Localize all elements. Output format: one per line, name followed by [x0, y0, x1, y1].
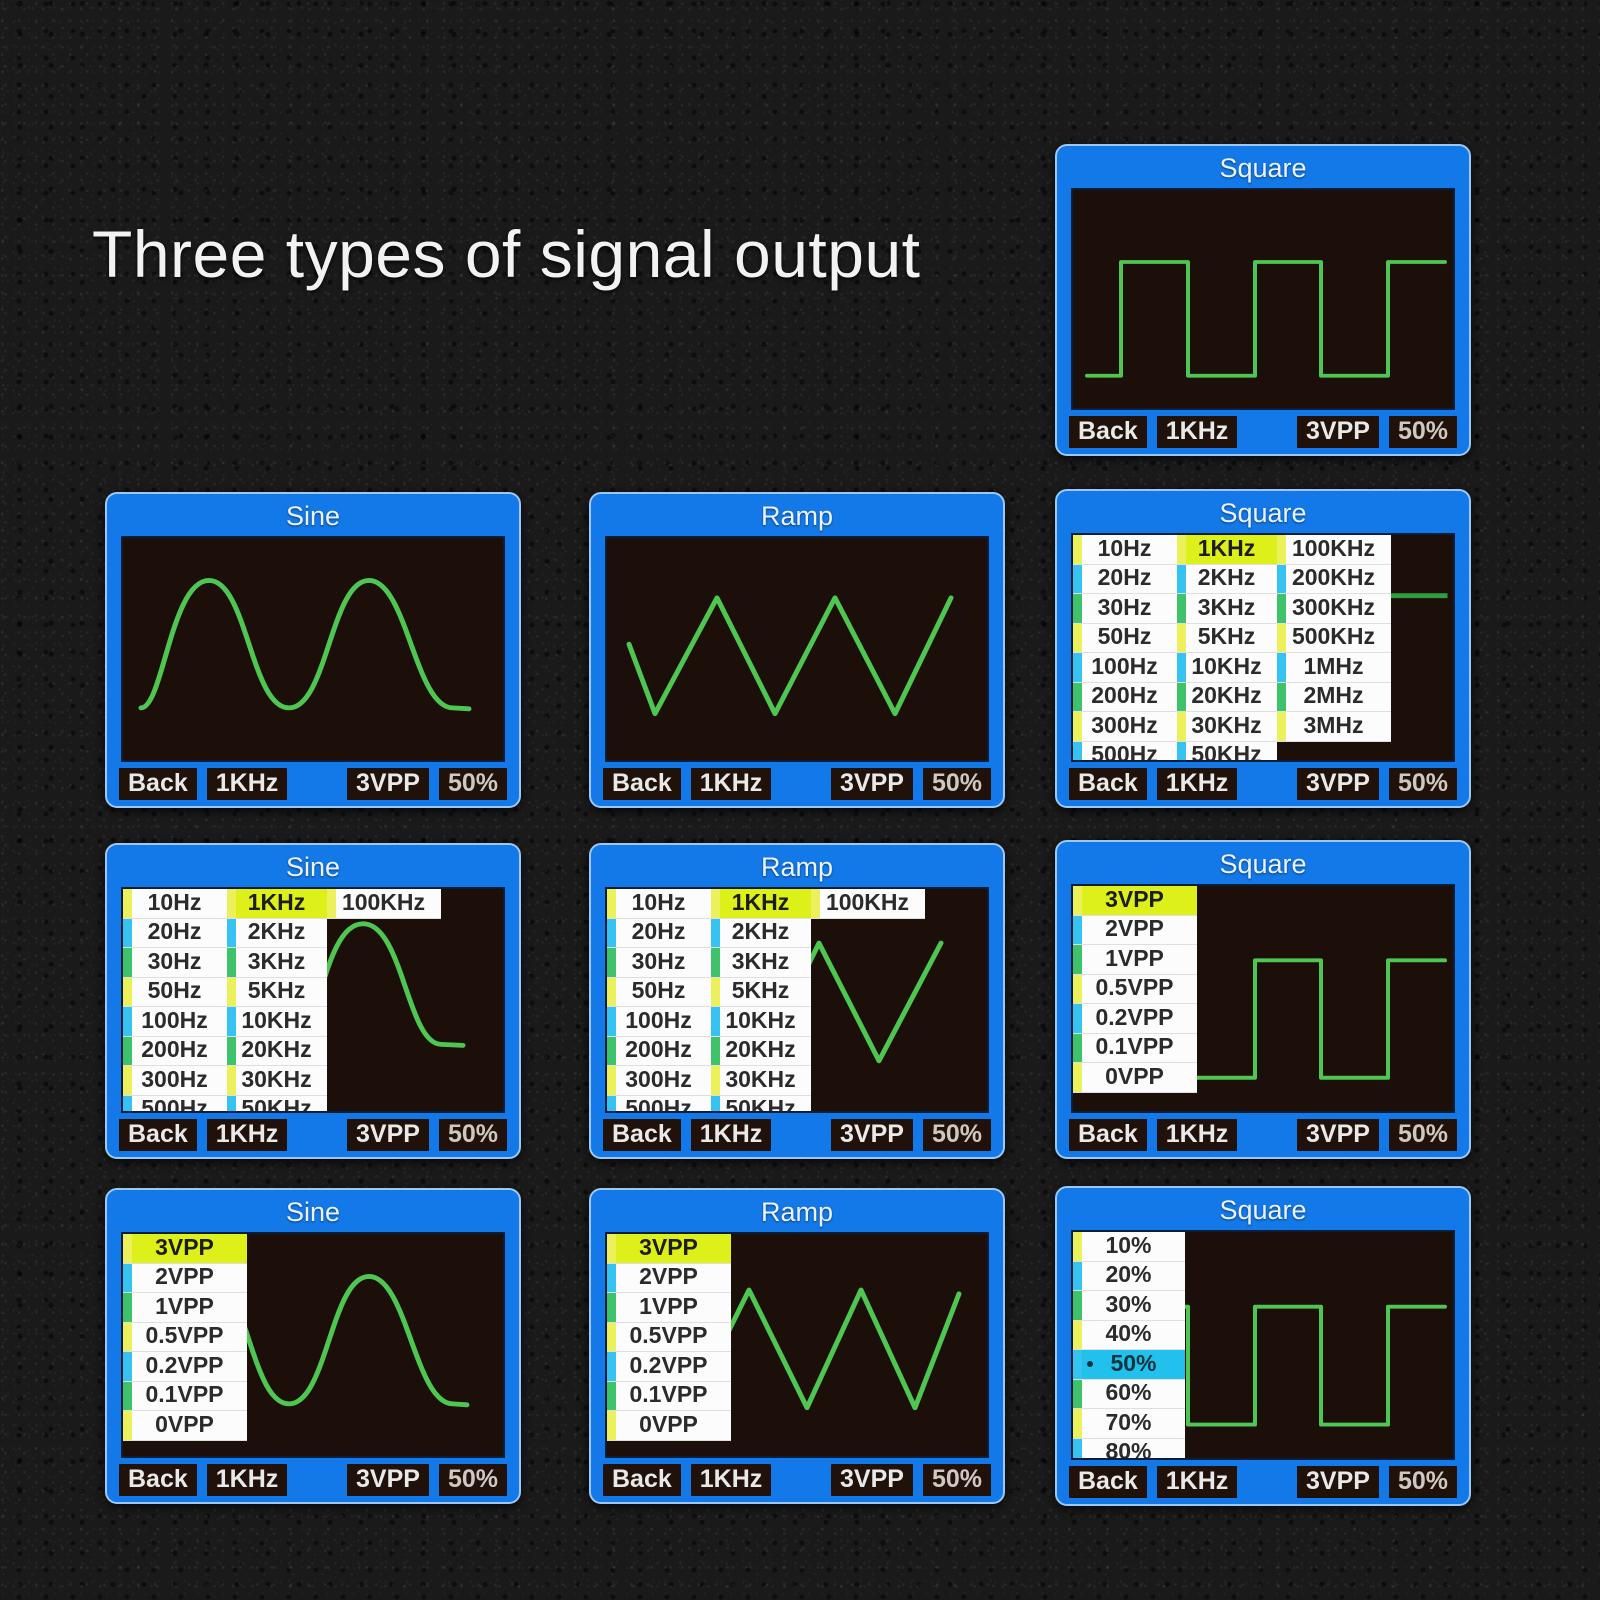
amplitude-button[interactable]: 3VPP	[347, 1119, 429, 1152]
menu-row-stripe	[1073, 535, 1082, 564]
frequency-option[interactable]: 200Hz	[607, 1037, 711, 1067]
frequency-menu-column-2[interactable]: 1KHz2KHz3KHz5KHz10KHz20KHz30KHz50KHz	[711, 889, 811, 1113]
amplitude-option[interactable]: 3VPP	[1073, 886, 1197, 916]
duty-option[interactable]: 30%	[1073, 1291, 1185, 1321]
device-panel-square-duty[interactable]: Square 10%20%30%40%50%60%70%80% Back 1KH…	[1055, 1186, 1471, 1506]
device-panel-square-amplitude[interactable]: Square 3VPP2VPP1VPP0.5VPP0.2VPP0.1VPP0VP…	[1055, 840, 1471, 1159]
frequency-menu-column-1[interactable]: 10Hz20Hz30Hz50Hz100Hz200Hz300Hz500Hz	[1073, 535, 1177, 762]
menu-row-stripe	[1073, 1439, 1082, 1461]
amplitude-option[interactable]: 0.2VPP	[123, 1352, 247, 1382]
frequency-option[interactable]: 200Hz	[123, 1037, 227, 1067]
menu-row-stripe	[123, 948, 132, 977]
menu-row-stripe	[1073, 1409, 1082, 1438]
menu-item-label: 500Hz	[1082, 743, 1169, 762]
ramp-waveform-icon	[607, 538, 987, 760]
menu-row-stripe	[123, 1411, 132, 1440]
frequency-option[interactable]: 500KHz	[1277, 624, 1391, 654]
menu-row-stripe	[1177, 565, 1186, 594]
menu-row-stripe	[1277, 535, 1286, 564]
menu-item-label: 2KHz	[720, 920, 803, 945]
frequency-button[interactable]: 1KHz	[207, 1464, 288, 1497]
amplitude-option[interactable]: 1VPP	[607, 1293, 731, 1323]
waveform-screen	[121, 536, 505, 762]
status-bar: Back 1KHz 3VPP 50%	[1057, 410, 1469, 454]
menu-row-stripe	[711, 889, 720, 918]
amplitude-option[interactable]: 0VPP	[607, 1411, 731, 1441]
amplitude-option[interactable]: 0VPP	[1073, 1063, 1197, 1093]
amplitude-button[interactable]: 3VPP	[831, 1119, 913, 1152]
menu-item-label: 5KHz	[236, 979, 319, 1004]
menu-row-stripe	[607, 1007, 616, 1036]
menu-item-label: 50Hz	[1082, 625, 1169, 650]
amplitude-menu-column[interactable]: 3VPP2VPP1VPP0.5VPP0.2VPP0.1VPP0VPP	[123, 1234, 247, 1441]
menu-row-stripe	[227, 1007, 236, 1036]
frequency-button[interactable]: 1KHz	[691, 1119, 772, 1152]
frequency-button[interactable]: 1KHz	[1157, 768, 1238, 801]
frequency-button[interactable]: 1KHz	[1157, 1466, 1238, 1499]
frequency-option[interactable]: 1KHz	[227, 889, 327, 919]
frequency-menu-column-2[interactable]: 1KHz2KHz3KHz5KHz10KHz20KHz30KHz50KHz	[1177, 535, 1277, 762]
frequency-button[interactable]: 1KHz	[1157, 1119, 1238, 1152]
frequency-option[interactable]: 100Hz	[123, 1007, 227, 1037]
menu-item-label: 30%	[1082, 1293, 1177, 1318]
amplitude-option[interactable]: 0.5VPP	[1073, 975, 1197, 1005]
page-title: Three types of signal output	[92, 216, 921, 292]
waveform-screen: 10Hz20Hz30Hz50Hz100Hz200Hz300Hz500Hz 1KH…	[1071, 533, 1455, 762]
menu-item-label: 30Hz	[1082, 596, 1169, 621]
frequency-option[interactable]: 10Hz	[607, 889, 711, 919]
duty-option[interactable]: 20%	[1073, 1262, 1185, 1292]
frequency-button[interactable]: 1KHz	[691, 768, 772, 801]
menu-item-label: 100KHz	[336, 891, 433, 916]
panel-title: Ramp	[591, 498, 1003, 536]
menu-row-stripe	[607, 1293, 616, 1322]
menu-item-label: 20Hz	[1082, 566, 1169, 591]
menu-item-label: 2VPP	[132, 1265, 239, 1290]
menu-row-stripe	[607, 1066, 616, 1095]
frequency-option[interactable]: 10Hz	[1073, 535, 1177, 565]
frequency-option[interactable]: 30KHz	[1177, 712, 1277, 742]
frequency-option[interactable]: 20KHz	[227, 1037, 327, 1067]
menu-row-stripe	[1277, 565, 1286, 594]
duty-button[interactable]: 50%	[439, 1119, 507, 1152]
menu-row-stripe	[711, 1066, 720, 1095]
menu-item-label: 0.2VPP	[132, 1354, 239, 1379]
amplitude-button[interactable]: 3VPP	[347, 768, 429, 801]
frequency-option[interactable]: 500Hz	[607, 1096, 711, 1114]
frequency-option[interactable]: 500Hz	[1073, 742, 1177, 763]
frequency-option[interactable]: 200Hz	[1073, 683, 1177, 713]
duty-menu-column[interactable]: 10%20%30%40%50%60%70%80%	[1073, 1232, 1185, 1460]
menu-row-stripe	[711, 1007, 720, 1036]
frequency-option[interactable]: 1KHz	[711, 889, 811, 919]
menu-item-label: 2MHz	[1286, 684, 1383, 709]
frequency-button[interactable]: 1KHz	[1157, 416, 1238, 449]
menu-row-stripe	[1277, 624, 1286, 653]
menu-item-label: 50KHz	[1186, 743, 1269, 762]
amplitude-option[interactable]: 1VPP	[123, 1293, 247, 1323]
back-button[interactable]: Back	[1069, 416, 1147, 449]
menu-row-stripe	[607, 1352, 616, 1381]
frequency-option[interactable]: 10KHz	[1177, 653, 1277, 683]
amplitude-menu[interactable]: 3VPP2VPP1VPP0.5VPP0.2VPP0.1VPP0VPP	[123, 1234, 247, 1441]
duty-button[interactable]: 50%	[923, 1464, 991, 1497]
menu-row-stripe	[123, 889, 132, 918]
menu-row-stripe	[227, 1037, 236, 1066]
frequency-menu-column-3[interactable]: 100KHz	[811, 889, 925, 919]
menu-item-label: 2VPP	[1082, 917, 1189, 942]
menu-item-label: 20%	[1082, 1263, 1177, 1288]
duty-option[interactable]: 50%	[1073, 1350, 1185, 1380]
menu-row-stripe	[123, 1066, 132, 1095]
waveform-screen: 3VPP2VPP1VPP0.5VPP0.2VPP0.1VPP0VPP	[605, 1232, 989, 1458]
sine-waveform-icon	[123, 538, 503, 760]
frequency-option[interactable]: 30Hz	[123, 948, 227, 978]
menu-item-label: 3VPP	[616, 1236, 723, 1261]
frequency-option[interactable]: 3KHz	[227, 948, 327, 978]
menu-row-stripe	[1177, 535, 1186, 564]
duty-button[interactable]: 50%	[923, 1119, 991, 1152]
amplitude-menu[interactable]: 3VPP2VPP1VPP0.5VPP0.2VPP0.1VPP0VPP	[607, 1234, 731, 1441]
amplitude-option[interactable]: 2VPP	[607, 1264, 731, 1294]
menu-row-stripe	[123, 1382, 132, 1411]
menu-item-label: 0.5VPP	[616, 1324, 723, 1349]
frequency-menu-column-1[interactable]: 10Hz20Hz30Hz50Hz100Hz200Hz300Hz500Hz	[123, 889, 227, 1113]
frequency-option[interactable]: 5KHz	[227, 978, 327, 1008]
menu-row-stripe	[1277, 653, 1286, 682]
frequency-option[interactable]: 20Hz	[1073, 565, 1177, 595]
menu-item-label: 100Hz	[616, 1009, 703, 1034]
waveform-screen: 10%20%30%40%50%60%70%80%	[1071, 1230, 1455, 1460]
frequency-option[interactable]: 10Hz	[123, 889, 227, 919]
menu-item-label: 3VPP	[132, 1236, 239, 1261]
menu-row-stripe	[227, 889, 236, 918]
menu-item-label: 20KHz	[236, 1038, 319, 1063]
menu-row-stripe	[1073, 886, 1082, 915]
duty-button[interactable]: 50%	[1389, 768, 1457, 801]
frequency-option[interactable]: 30KHz	[711, 1066, 811, 1096]
frequency-option[interactable]: 500Hz	[123, 1096, 227, 1114]
status-bar: Back 1KHz 3VPP 50%	[591, 1458, 1003, 1502]
amplitude-option[interactable]: 1VPP	[1073, 945, 1197, 975]
panel-title: Ramp	[591, 849, 1003, 887]
menu-row-stripe	[1073, 712, 1082, 741]
frequency-option[interactable]: 300KHz	[1277, 594, 1391, 624]
menu-item-label: 300KHz	[1286, 596, 1383, 621]
duty-option[interactable]: 10%	[1073, 1232, 1185, 1262]
panel-title: Square	[1057, 846, 1469, 884]
menu-item-label: 300Hz	[132, 1068, 219, 1093]
frequency-button[interactable]: 1KHz	[207, 768, 288, 801]
menu-row-stripe	[607, 1411, 616, 1440]
amplitude-button[interactable]: 3VPP	[1297, 1466, 1379, 1499]
amplitude-button[interactable]: 3VPP	[1297, 1119, 1379, 1152]
frequency-option[interactable]: 5KHz	[711, 978, 811, 1008]
amplitude-option[interactable]: 0.1VPP	[1073, 1034, 1197, 1064]
duty-button[interactable]: 50%	[439, 768, 507, 801]
menu-row-stripe	[227, 1066, 236, 1095]
menu-item-label: 100KHz	[1286, 537, 1383, 562]
frequency-option[interactable]: 100KHz	[1277, 535, 1391, 565]
menu-item-label: 200Hz	[616, 1038, 703, 1063]
device-panel-sine-amplitude[interactable]: Sine 3VPP2VPP1VPP0.5VPP0.2VPP0.1VPP0VPP …	[105, 1188, 521, 1504]
amplitude-button[interactable]: 3VPP	[831, 1464, 913, 1497]
status-bar: Back 1KHz 3VPP 50%	[591, 762, 1003, 806]
frequency-option[interactable]: 50Hz	[607, 978, 711, 1008]
menu-row-stripe	[1073, 1034, 1082, 1063]
amplitude-button[interactable]: 3VPP	[1297, 416, 1379, 449]
back-button[interactable]: Back	[119, 768, 197, 801]
back-button[interactable]: Back	[1069, 768, 1147, 801]
menu-row-stripe	[711, 919, 720, 948]
menu-row-stripe	[1073, 975, 1082, 1004]
menu-row-stripe	[1073, 1232, 1082, 1261]
frequency-option[interactable]: 20KHz	[1177, 683, 1277, 713]
back-button[interactable]: Back	[603, 1464, 681, 1497]
duty-button[interactable]: 50%	[439, 1464, 507, 1497]
frequency-menu[interactable]: 10Hz20Hz30Hz50Hz100Hz200Hz300Hz500Hz 1KH…	[1073, 535, 1391, 762]
frequency-menu[interactable]: 10Hz20Hz30Hz50Hz100Hz200Hz300Hz500Hz 1KH…	[607, 889, 925, 1113]
menu-item-label: 300Hz	[616, 1068, 703, 1093]
menu-row-stripe	[1277, 683, 1286, 712]
amplitude-button[interactable]: 3VPP	[1297, 768, 1379, 801]
menu-row-stripe	[607, 1382, 616, 1411]
frequency-option[interactable]: 20Hz	[607, 919, 711, 949]
menu-item-label: 60%	[1082, 1381, 1177, 1406]
frequency-option[interactable]: 50KHz	[711, 1096, 811, 1114]
menu-row-stripe	[1177, 712, 1186, 741]
menu-item-label: 500Hz	[132, 1097, 219, 1113]
duty-button[interactable]: 50%	[1389, 1466, 1457, 1499]
menu-row-stripe	[607, 919, 616, 948]
menu-row-stripe	[711, 978, 720, 1007]
frequency-option[interactable]: 1KHz	[1177, 535, 1277, 565]
duty-menu[interactable]: 10%20%30%40%50%60%70%80%	[1073, 1232, 1185, 1460]
amplitude-option[interactable]: 0VPP	[123, 1411, 247, 1441]
menu-row-stripe	[1277, 594, 1286, 623]
menu-row-stripe	[607, 1264, 616, 1293]
waveform-screen: 3VPP2VPP1VPP0.5VPP0.2VPP0.1VPP0VPP	[121, 1232, 505, 1458]
panel-title: Sine	[107, 498, 519, 536]
menu-item-label: 3MHz	[1286, 714, 1383, 739]
frequency-menu-column-1[interactable]: 10Hz20Hz30Hz50Hz100Hz200Hz300Hz500Hz	[607, 889, 711, 1113]
duty-option[interactable]: 80%	[1073, 1439, 1185, 1461]
status-bar: Back 1KHz 3VPP 50%	[1057, 1460, 1469, 1504]
menu-row-stripe	[1073, 916, 1082, 945]
device-panel-ramp-frequency[interactable]: Ramp 10Hz20Hz30Hz50Hz100Hz200Hz300Hz500H…	[589, 843, 1005, 1159]
menu-item-label: 40%	[1082, 1322, 1177, 1347]
duty-button[interactable]: 50%	[1389, 1119, 1457, 1152]
menu-row-stripe	[1177, 683, 1186, 712]
menu-item-label: 20Hz	[132, 920, 219, 945]
menu-item-label: 30KHz	[236, 1068, 319, 1093]
menu-row-stripe	[327, 889, 336, 918]
amplitude-option[interactable]: 0.1VPP	[123, 1382, 247, 1412]
menu-row-stripe	[1177, 653, 1186, 682]
menu-item-label: 30KHz	[1186, 714, 1269, 739]
device-panel-square-frequency[interactable]: Square 10Hz20Hz30Hz50Hz100Hz200Hz300Hz50…	[1055, 489, 1471, 808]
waveform-screen: 10Hz20Hz30Hz50Hz100Hz200Hz300Hz500Hz 1KH…	[121, 887, 505, 1113]
frequency-option[interactable]: 2KHz	[1177, 565, 1277, 595]
status-bar: Back 1KHz 3VPP 50%	[107, 762, 519, 806]
menu-row-stripe	[1177, 742, 1186, 763]
panel-title: Square	[1057, 1192, 1469, 1230]
menu-row-stripe	[1177, 624, 1186, 653]
frequency-option[interactable]: 10KHz	[711, 1007, 811, 1037]
device-panel-ramp-wave[interactable]: Ramp Back 1KHz 3VPP 50%	[589, 492, 1005, 808]
frequency-option[interactable]: 10KHz	[227, 1007, 327, 1037]
menu-item-label: 30KHz	[720, 1068, 803, 1093]
menu-item-label: 10KHz	[236, 1009, 319, 1034]
back-button[interactable]: Back	[1069, 1119, 1147, 1152]
panel-title: Sine	[107, 1194, 519, 1232]
menu-item-label: 10KHz	[1186, 655, 1269, 680]
duty-button[interactable]: 50%	[923, 768, 991, 801]
amplitude-option[interactable]: 2VPP	[123, 1264, 247, 1294]
amplitude-option[interactable]: 0.1VPP	[607, 1382, 731, 1412]
menu-row-stripe	[123, 1323, 132, 1352]
device-panel-sine-frequency[interactable]: Sine 10Hz20Hz30Hz50Hz100Hz200Hz300Hz500H…	[105, 843, 521, 1159]
back-button[interactable]: Back	[603, 768, 681, 801]
frequency-button[interactable]: 1KHz	[207, 1119, 288, 1152]
back-button[interactable]: Back	[1069, 1466, 1147, 1499]
status-bar: Back 1KHz 3VPP 50%	[1057, 1113, 1469, 1157]
menu-item-label: 0.5VPP	[1082, 976, 1189, 1001]
amplitude-option[interactable]: 3VPP	[607, 1234, 731, 1264]
menu-item-label: 500Hz	[616, 1097, 703, 1113]
waveform-screen: 3VPP2VPP1VPP0.5VPP0.2VPP0.1VPP0VPP	[1071, 884, 1455, 1113]
frequency-option[interactable]: 300Hz	[607, 1066, 711, 1096]
back-button[interactable]: Back	[603, 1119, 681, 1152]
duty-option[interactable]: 40%	[1073, 1321, 1185, 1351]
duty-option[interactable]: 60%	[1073, 1380, 1185, 1410]
menu-item-label: 50KHz	[236, 1097, 319, 1113]
menu-row-stripe	[123, 978, 132, 1007]
menu-item-label: 5KHz	[720, 979, 803, 1004]
frequency-option[interactable]: 300Hz	[1073, 712, 1177, 742]
amplitude-menu-column[interactable]: 3VPP2VPP1VPP0.5VPP0.2VPP0.1VPP0VPP	[607, 1234, 731, 1441]
menu-row-stripe	[711, 1037, 720, 1066]
frequency-option[interactable]: 100KHz	[327, 889, 441, 919]
menu-row-stripe	[1073, 945, 1082, 974]
menu-item-label: 1KHz	[720, 891, 803, 916]
menu-item-label: 1MHz	[1286, 655, 1383, 680]
menu-row-stripe	[607, 1096, 616, 1114]
menu-item-label: 0.1VPP	[616, 1383, 723, 1408]
amplitude-button[interactable]: 3VPP	[347, 1464, 429, 1497]
frequency-option[interactable]: 20Hz	[123, 919, 227, 949]
amplitude-menu[interactable]: 3VPP2VPP1VPP0.5VPP0.2VPP0.1VPP0VPP	[1073, 886, 1197, 1093]
menu-row-stripe	[811, 889, 820, 918]
menu-row-stripe	[1073, 1321, 1082, 1350]
amplitude-option[interactable]: 0.5VPP	[607, 1323, 731, 1353]
menu-row-stripe	[227, 978, 236, 1007]
menu-item-label: 3VPP	[1082, 888, 1189, 913]
frequency-option[interactable]: 100KHz	[811, 889, 925, 919]
status-bar: Back 1KHz 3VPP 50%	[1057, 762, 1469, 806]
frequency-option[interactable]: 300Hz	[123, 1066, 227, 1096]
menu-row-stripe	[1073, 624, 1082, 653]
frequency-option[interactable]: 2KHz	[227, 919, 327, 949]
frequency-option[interactable]: 200KHz	[1277, 565, 1391, 595]
frequency-option[interactable]: 5KHz	[1177, 624, 1277, 654]
menu-item-label: 2KHz	[1186, 566, 1269, 591]
menu-item-label: 0VPP	[1082, 1065, 1189, 1090]
menu-row-stripe	[123, 1037, 132, 1066]
menu-item-label: 5KHz	[1186, 625, 1269, 650]
frequency-option[interactable]: 3KHz	[1177, 594, 1277, 624]
amplitude-option[interactable]: 0.2VPP	[1073, 1004, 1197, 1034]
frequency-option[interactable]: 50KHz	[1177, 742, 1277, 763]
frequency-option[interactable]: 50Hz	[1073, 624, 1177, 654]
frequency-button[interactable]: 1KHz	[691, 1464, 772, 1497]
menu-item-label: 10Hz	[1082, 537, 1169, 562]
frequency-option[interactable]: 2MHz	[1277, 683, 1391, 713]
frequency-menu[interactable]: 10Hz20Hz30Hz50Hz100Hz200Hz300Hz500Hz 1KH…	[123, 889, 441, 1113]
amplitude-option[interactable]: 2VPP	[1073, 916, 1197, 946]
menu-item-label: 3KHz	[236, 950, 319, 975]
back-button[interactable]: Back	[119, 1464, 197, 1497]
amplitude-option[interactable]: 0.5VPP	[123, 1323, 247, 1353]
frequency-option[interactable]: 2KHz	[711, 919, 811, 949]
amplitude-button[interactable]: 3VPP	[831, 768, 913, 801]
menu-row-stripe	[1073, 1350, 1082, 1379]
menu-item-label: 200KHz	[1286, 566, 1383, 591]
amplitude-option[interactable]: 0.2VPP	[607, 1352, 731, 1382]
menu-row-stripe	[607, 889, 616, 918]
device-panel-square-wave-top[interactable]: Square Back 1KHz 3VPP 50%	[1055, 144, 1471, 456]
square-waveform-icon	[1073, 190, 1453, 408]
frequency-option[interactable]: 3KHz	[711, 948, 811, 978]
frequency-option[interactable]: 30KHz	[227, 1066, 327, 1096]
frequency-menu-column-2[interactable]: 1KHz2KHz3KHz5KHz10KHz20KHz30KHz50KHz	[227, 889, 327, 1113]
menu-row-stripe	[711, 948, 720, 977]
waveform-screen	[605, 536, 989, 762]
back-button[interactable]: Back	[119, 1119, 197, 1152]
menu-item-label: 3KHz	[1186, 596, 1269, 621]
frequency-option[interactable]: 3MHz	[1277, 712, 1391, 742]
menu-row-stripe	[123, 1264, 132, 1293]
frequency-option[interactable]: 30Hz	[1073, 594, 1177, 624]
status-bar: Back 1KHz 3VPP 50%	[591, 1113, 1003, 1157]
amplitude-menu-column[interactable]: 3VPP2VPP1VPP0.5VPP0.2VPP0.1VPP0VPP	[1073, 886, 1197, 1093]
frequency-option[interactable]: 100Hz	[1073, 653, 1177, 683]
menu-row-stripe	[227, 948, 236, 977]
duty-option[interactable]: 70%	[1073, 1409, 1185, 1439]
device-panel-ramp-amplitude[interactable]: Ramp 3VPP2VPP1VPP0.5VPP0.2VPP0.1VPP0VPP …	[589, 1188, 1005, 1504]
amplitude-option[interactable]: 3VPP	[123, 1234, 247, 1264]
frequency-option[interactable]: 30Hz	[607, 948, 711, 978]
menu-row-stripe	[1073, 594, 1082, 623]
frequency-option[interactable]: 20KHz	[711, 1037, 811, 1067]
menu-row-stripe	[123, 1352, 132, 1381]
frequency-option[interactable]: 100Hz	[607, 1007, 711, 1037]
menu-row-stripe	[1073, 1063, 1082, 1092]
frequency-option[interactable]: 50Hz	[123, 978, 227, 1008]
duty-button[interactable]: 50%	[1389, 416, 1457, 449]
menu-row-stripe	[123, 919, 132, 948]
menu-row-stripe	[1073, 683, 1082, 712]
menu-item-label: 20KHz	[1186, 684, 1269, 709]
frequency-option[interactable]: 50KHz	[227, 1096, 327, 1114]
frequency-option[interactable]: 1MHz	[1277, 653, 1391, 683]
menu-row-stripe	[1073, 1004, 1082, 1033]
device-panel-sine-wave[interactable]: Sine Back 1KHz 3VPP 50%	[105, 492, 521, 808]
status-bar: Back 1KHz 3VPP 50%	[107, 1113, 519, 1157]
menu-row-stripe	[607, 1323, 616, 1352]
frequency-menu-column-3[interactable]: 100KHz	[327, 889, 441, 919]
frequency-menu-column-3[interactable]: 100KHz200KHz300KHz500KHz1MHz2MHz3MHz	[1277, 535, 1391, 742]
